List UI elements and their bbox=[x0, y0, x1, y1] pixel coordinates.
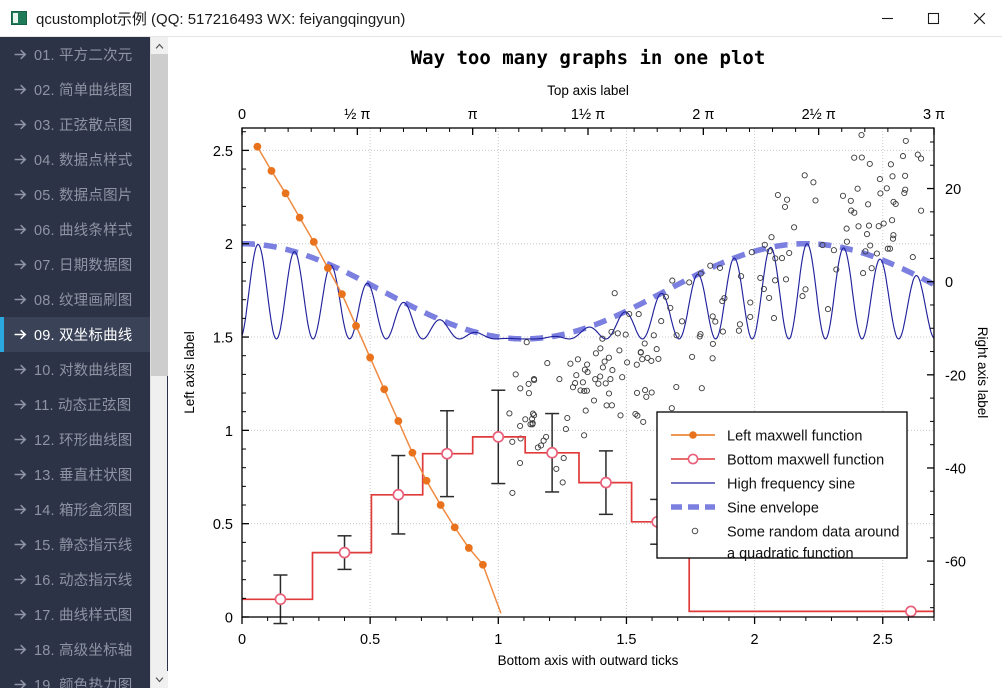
sidebar-item-label: 19. 颜色热力图 bbox=[34, 674, 133, 688]
scatter-point bbox=[868, 243, 873, 248]
scatter-point bbox=[792, 225, 797, 230]
sidebar-item-label: 06. 曲线条样式 bbox=[34, 219, 133, 240]
legend-label: Some random data around bbox=[727, 525, 900, 541]
scatter-point bbox=[524, 340, 529, 345]
scatter-point bbox=[513, 372, 518, 377]
arrow-right-icon bbox=[14, 119, 27, 130]
scatter-point bbox=[748, 300, 753, 305]
minimize-button[interactable] bbox=[864, 0, 910, 36]
sidebar-item-1[interactable]: 01. 平方二次元 bbox=[0, 37, 168, 72]
legend-marker-dot bbox=[689, 431, 697, 439]
arrow-right-icon bbox=[14, 49, 27, 60]
arrow-right-icon bbox=[14, 574, 27, 585]
sidebar-item-18[interactable]: 18. 高级坐标轴 bbox=[0, 632, 168, 667]
top-tick-label: 1½ π bbox=[571, 107, 605, 123]
scatter-point bbox=[903, 138, 908, 143]
bottom-axis-label: Bottom axis with outward ticks bbox=[498, 653, 679, 668]
scatter-point bbox=[861, 271, 866, 276]
scatter-point bbox=[779, 256, 784, 261]
left-axis-ticks: 00.511.522.5 bbox=[213, 132, 249, 627]
window-controls bbox=[864, 0, 1002, 36]
bottom-tick-label: 0.5 bbox=[360, 632, 380, 648]
scatter-point bbox=[773, 278, 778, 283]
scatter-point bbox=[690, 354, 695, 359]
scatter-point bbox=[890, 174, 895, 179]
scatter-point bbox=[902, 190, 907, 195]
sidebar-scrollbar-thumb[interactable] bbox=[151, 54, 168, 376]
scatter-point bbox=[526, 391, 531, 396]
scatter-point bbox=[785, 197, 790, 202]
scatter-point bbox=[866, 223, 871, 228]
scatter-point bbox=[874, 251, 879, 256]
scatter-point bbox=[625, 360, 630, 365]
scatter-point bbox=[634, 362, 639, 367]
scatter-point bbox=[748, 314, 753, 319]
arrow-right-icon bbox=[14, 399, 27, 410]
bottom-maxwell-marker bbox=[393, 490, 403, 500]
window-title: qcustomplot示例 (QQ: 517216493 WX: feiyang… bbox=[36, 8, 405, 29]
left-maxwell-marker bbox=[253, 143, 261, 151]
right-axis-ticks: -60-40-20020 bbox=[927, 142, 966, 608]
scatter-point bbox=[903, 187, 908, 192]
chart-canvas[interactable]: Way too many graphs in one plotTop axis … bbox=[168, 37, 1002, 688]
sidebar-item-label: 04. 数据点样式 bbox=[34, 149, 133, 170]
scatter-point bbox=[869, 266, 874, 271]
arrow-right-icon bbox=[14, 539, 27, 550]
scatter-point bbox=[710, 341, 715, 346]
scatter-point bbox=[585, 362, 590, 367]
sidebar-item-10[interactable]: 10. 对数曲线图 bbox=[0, 352, 168, 387]
bottom-maxwell-marker bbox=[547, 448, 557, 458]
scatter-point bbox=[644, 394, 649, 399]
arrow-right-icon bbox=[14, 644, 27, 655]
sidebar-item-label: 15. 静态指示线 bbox=[34, 534, 133, 555]
scatter-point bbox=[848, 198, 853, 203]
scatter-point bbox=[643, 388, 648, 393]
left-maxwell-marker bbox=[437, 501, 445, 509]
left-maxwell-marker bbox=[338, 290, 346, 298]
sidebar-item-label: 10. 对数曲线图 bbox=[34, 359, 133, 380]
scatter-point bbox=[649, 390, 654, 395]
series-left-maxwell bbox=[257, 147, 501, 614]
application-window: qcustomplot示例 (QQ: 517216493 WX: feiyang… bbox=[0, 0, 1002, 688]
scatter-point bbox=[604, 403, 609, 408]
top-tick-label: π bbox=[468, 107, 478, 123]
arrow-right-icon bbox=[14, 434, 27, 445]
scatter-point bbox=[659, 319, 664, 324]
scatter-point bbox=[517, 460, 522, 465]
scatter-point bbox=[565, 415, 570, 420]
scatter-point bbox=[783, 277, 788, 282]
scatter-point bbox=[642, 341, 647, 346]
scatter-point bbox=[900, 154, 905, 159]
scatter-point bbox=[803, 287, 808, 292]
top-tick-label: 0 bbox=[238, 107, 246, 123]
scatter-point bbox=[620, 375, 625, 380]
sidebar-item-label: 03. 正弦散点图 bbox=[34, 114, 133, 135]
sidebar-item-7[interactable]: 07. 日期数据图 bbox=[0, 247, 168, 282]
scatter-point bbox=[679, 319, 684, 324]
left-maxwell-marker bbox=[380, 385, 388, 393]
left-maxwell-marker bbox=[451, 524, 459, 532]
left-tick-label: 2 bbox=[225, 237, 233, 253]
scatter-point bbox=[641, 419, 646, 424]
sidebar-item-14[interactable]: 14. 箱形盒须图 bbox=[0, 492, 168, 527]
scatter-point bbox=[767, 295, 772, 300]
scatter-point bbox=[618, 413, 623, 418]
scatter-point bbox=[580, 380, 585, 385]
chart-title: Way too many graphs in one plot bbox=[411, 47, 766, 69]
left-maxwell-marker bbox=[409, 449, 417, 457]
scatter-point bbox=[583, 408, 588, 413]
scatter-point bbox=[919, 156, 924, 161]
scatter-point bbox=[844, 226, 849, 231]
scatter-point bbox=[570, 385, 575, 390]
scatter-point bbox=[910, 255, 915, 260]
bottom-tick-label: 2 bbox=[751, 632, 759, 648]
plot-panel[interactable]: Way too many graphs in one plotTop axis … bbox=[168, 37, 1002, 688]
scatter-point bbox=[649, 358, 654, 363]
sidebar-item-label: 13. 垂直柱状图 bbox=[34, 464, 133, 485]
scatter-point bbox=[610, 368, 615, 373]
scatter-point bbox=[736, 328, 741, 333]
scatter-point bbox=[596, 381, 601, 386]
scatter-point bbox=[758, 275, 763, 280]
sidebar-item-label: 17. 曲线样式图 bbox=[34, 604, 133, 625]
scatter-point bbox=[775, 192, 780, 197]
bottom-maxwell-marker bbox=[906, 606, 916, 616]
scatter-point bbox=[890, 218, 895, 223]
sidebar-item-8[interactable]: 08. 纹理画刷图 bbox=[0, 282, 168, 317]
scatter-point bbox=[545, 361, 550, 366]
scatter-point bbox=[802, 173, 807, 178]
right-tick-label: 0 bbox=[945, 275, 953, 291]
left-tick-label: 0.5 bbox=[213, 517, 233, 533]
legend-label: High frequency sine bbox=[727, 477, 855, 493]
legend-marker-circle bbox=[688, 454, 697, 463]
scatter-point bbox=[867, 161, 872, 166]
arrow-right-icon bbox=[14, 259, 27, 270]
scatter-point bbox=[844, 239, 849, 244]
scatter-point bbox=[603, 381, 608, 386]
bottom-maxwell-marker bbox=[493, 432, 503, 442]
top-tick-label: 2½ π bbox=[802, 107, 836, 123]
chevron-down-icon[interactable] bbox=[151, 671, 168, 688]
sidebar-item-label: 11. 动态正弦图 bbox=[34, 394, 131, 415]
sidebar-item-2[interactable]: 02. 简单曲线图 bbox=[0, 72, 168, 107]
scatter-point bbox=[825, 307, 830, 312]
scatter-point bbox=[856, 224, 861, 229]
sidebar-item-16[interactable]: 16. 动态指示线 bbox=[0, 562, 168, 597]
top-tick-label: 2 π bbox=[692, 107, 714, 123]
scatter-point bbox=[699, 386, 704, 391]
scatter-point bbox=[800, 294, 805, 299]
arrow-right-icon bbox=[14, 84, 27, 95]
scatter-point bbox=[713, 319, 718, 324]
scatter-point bbox=[670, 278, 675, 283]
bottom-maxwell-marker bbox=[340, 548, 350, 558]
scatter-point bbox=[561, 456, 566, 461]
scatter-point bbox=[568, 361, 573, 366]
chevron-up-icon[interactable] bbox=[151, 37, 168, 54]
legend-label-line2: a quadratic function bbox=[727, 546, 854, 562]
scatter-point bbox=[578, 388, 583, 393]
scatter-point bbox=[612, 291, 617, 296]
scatter-point bbox=[554, 466, 559, 471]
maximize-button[interactable] bbox=[910, 0, 956, 36]
top-tick-label: 3 π bbox=[923, 107, 945, 123]
arrow-right-icon bbox=[14, 294, 27, 305]
scatter-point bbox=[615, 331, 620, 336]
left-tick-label: 0 bbox=[225, 611, 233, 627]
top-tick-label: ½ π bbox=[344, 107, 370, 123]
scatter-point bbox=[654, 347, 659, 352]
scatter-point bbox=[859, 132, 864, 137]
arrow-right-icon bbox=[14, 609, 27, 620]
scatter-point bbox=[518, 423, 523, 428]
sidebar-item-3[interactable]: 03. 正弦散点图 bbox=[0, 107, 168, 142]
scatter-point bbox=[876, 224, 881, 229]
sidebar-item-label: 05. 数据点图片 bbox=[34, 184, 133, 205]
right-tick-label: -20 bbox=[945, 368, 966, 384]
scatter-point bbox=[782, 204, 787, 209]
scatter-point bbox=[739, 274, 744, 279]
arrow-right-icon bbox=[14, 189, 27, 200]
sidebar-item-6[interactable]: 06. 曲线条样式 bbox=[0, 212, 168, 247]
right-tick-label: 20 bbox=[945, 182, 961, 198]
scatter-point bbox=[710, 314, 715, 319]
series-high-frequency-sine bbox=[242, 244, 934, 339]
scatter-point bbox=[510, 490, 515, 495]
scatter-point bbox=[656, 356, 661, 361]
arrow-right-icon bbox=[14, 679, 27, 688]
bottom-tick-label: 1.5 bbox=[616, 632, 636, 648]
scatter-point bbox=[598, 346, 603, 351]
scatter-point bbox=[877, 177, 882, 182]
bottom-tick-label: 0 bbox=[238, 632, 246, 648]
scatter-point bbox=[831, 248, 836, 253]
left-tick-label: 1.5 bbox=[213, 331, 233, 347]
bottom-axis-ticks: 00.511.522.5 bbox=[238, 617, 934, 648]
scatter-point bbox=[787, 250, 792, 255]
scatter-point bbox=[507, 411, 512, 416]
right-tick-label: -40 bbox=[945, 461, 966, 477]
sidebar-item-13[interactable]: 13. 垂直柱状图 bbox=[0, 457, 168, 492]
sidebar-item-label: 14. 箱形盒须图 bbox=[34, 499, 133, 520]
scatter-point bbox=[602, 359, 607, 364]
scatter-point bbox=[636, 312, 641, 317]
sidebar-item-label: 08. 纹理画刷图 bbox=[34, 289, 133, 310]
scatter-point bbox=[855, 186, 860, 191]
sidebar-item-5[interactable]: 05. 数据点图片 bbox=[0, 177, 168, 212]
error-bars bbox=[273, 390, 664, 623]
legend-label: Bottom maxwell function bbox=[727, 453, 884, 469]
scatter-point bbox=[600, 365, 605, 370]
title-bar: qcustomplot示例 (QQ: 517216493 WX: feiyang… bbox=[0, 0, 1002, 37]
sidebar-item-label: 02. 简单曲线图 bbox=[34, 79, 133, 100]
scatter-point bbox=[737, 322, 742, 327]
sidebar-item-label: 16. 动态指示线 bbox=[34, 569, 133, 590]
sidebar-item-9[interactable]: 09. 双坐标曲线 bbox=[0, 317, 168, 352]
bottom-tick-label: 2.5 bbox=[873, 632, 893, 648]
scatter-point bbox=[560, 480, 565, 485]
scatter-point bbox=[840, 193, 845, 198]
scatter-point bbox=[518, 386, 523, 391]
arrow-right-icon bbox=[14, 469, 27, 480]
sidebar-item-label: 18. 高级坐标轴 bbox=[34, 639, 133, 660]
scatter-point bbox=[640, 357, 645, 362]
scatter-point bbox=[864, 232, 869, 237]
scatter-point bbox=[674, 384, 679, 389]
scatter-point bbox=[530, 411, 535, 416]
legend-label: Sine envelope bbox=[727, 501, 819, 517]
scatter-point bbox=[593, 351, 598, 356]
left-tick-label: 1 bbox=[225, 424, 233, 440]
scatter-point bbox=[852, 155, 857, 160]
scatter-point bbox=[541, 438, 546, 443]
scatter-point bbox=[544, 434, 549, 439]
scatter-point bbox=[608, 377, 613, 382]
app-icon bbox=[11, 11, 27, 25]
sidebar[interactable]: 01. 平方二次元02. 简单曲线图03. 正弦散点图04. 数据点样式05. … bbox=[0, 37, 168, 688]
scatter-point bbox=[591, 398, 596, 403]
scatter-point bbox=[687, 280, 692, 285]
scatter-point bbox=[878, 191, 883, 196]
scatter-point bbox=[919, 208, 924, 213]
sidebar-item-19[interactable]: 19. 颜色热力图 bbox=[0, 667, 168, 688]
left-maxwell-marker bbox=[394, 417, 402, 425]
left-maxwell-marker bbox=[465, 544, 473, 552]
scatter-point bbox=[582, 433, 587, 438]
left-maxwell-marker bbox=[282, 189, 290, 197]
legend-label: Left maxwell function bbox=[727, 429, 862, 445]
left-maxwell-marker bbox=[268, 167, 276, 175]
left-maxwell-marker bbox=[479, 561, 487, 569]
top-axis-label: Top axis label bbox=[547, 83, 629, 98]
arrow-right-icon bbox=[14, 154, 27, 165]
scatter-point bbox=[598, 374, 603, 379]
scatter-point bbox=[888, 162, 893, 167]
sidebar-item-15[interactable]: 15. 静态指示线 bbox=[0, 527, 168, 562]
arrow-right-icon bbox=[14, 364, 27, 375]
bottom-maxwell-marker bbox=[601, 478, 611, 488]
scatter-point bbox=[510, 439, 515, 444]
left-maxwell-marker bbox=[352, 322, 360, 330]
sidebar-item-17[interactable]: 17. 曲线样式图 bbox=[0, 597, 168, 632]
scatter-point bbox=[859, 155, 864, 160]
scatter-point bbox=[720, 329, 725, 334]
bottom-maxwell-marker bbox=[275, 594, 285, 604]
scatter-point bbox=[574, 373, 579, 378]
left-maxwell-marker bbox=[366, 354, 374, 362]
scatter-point bbox=[623, 332, 628, 337]
left-axis-label: Left axis label bbox=[182, 331, 197, 414]
arrow-right-icon bbox=[14, 329, 27, 340]
sidebar-item-label: 09. 双坐标曲线 bbox=[34, 324, 133, 345]
scatter-point bbox=[669, 406, 674, 411]
sidebar-item-label: 12. 环形曲线图 bbox=[34, 429, 133, 450]
scatter-point bbox=[890, 236, 895, 241]
sidebar-item-label: 01. 平方二次元 bbox=[34, 44, 133, 65]
arrow-right-icon bbox=[14, 504, 27, 515]
scatter-point bbox=[884, 186, 889, 191]
scatter-point bbox=[634, 390, 639, 395]
sidebar-item-4[interactable]: 04. 数据点样式 bbox=[0, 142, 168, 177]
top-axis-ticks: 0½ ππ1½ π2 π2½ π3 π bbox=[238, 107, 945, 135]
scatter-point bbox=[523, 417, 528, 422]
sidebar-scrollbar[interactable] bbox=[150, 37, 167, 688]
left-maxwell-marker bbox=[423, 477, 431, 485]
sidebar-item-12[interactable]: 12. 环形曲线图 bbox=[0, 422, 168, 457]
left-maxwell-marker bbox=[324, 264, 332, 272]
arrow-right-icon bbox=[14, 224, 27, 235]
scatter-point bbox=[606, 391, 611, 396]
scatter-point bbox=[771, 316, 776, 321]
scatter-point bbox=[563, 427, 568, 432]
sidebar-item-label: 07. 日期数据图 bbox=[34, 254, 133, 275]
scatter-point bbox=[609, 403, 614, 408]
bottom-maxwell-marker bbox=[442, 449, 452, 459]
bottom-tick-label: 1 bbox=[494, 632, 502, 648]
scatter-point bbox=[617, 348, 622, 353]
scatter-point bbox=[881, 221, 886, 226]
left-tick-label: 2.5 bbox=[213, 144, 233, 160]
scatter-point bbox=[710, 356, 715, 361]
scatter-point bbox=[866, 202, 871, 207]
scatter-point bbox=[903, 173, 908, 178]
scatter-point bbox=[813, 198, 818, 203]
left-maxwell-marker bbox=[296, 214, 304, 222]
right-axis-label: Right axis label bbox=[975, 327, 990, 419]
close-button[interactable] bbox=[956, 0, 1002, 36]
scatter-point bbox=[769, 235, 774, 240]
chart-legend[interactable]: Left maxwell functionBottom maxwell func… bbox=[657, 412, 907, 562]
scatter-point bbox=[811, 180, 816, 185]
scatter-point bbox=[557, 377, 562, 382]
sidebar-item-11[interactable]: 11. 动态正弦图 bbox=[0, 387, 168, 422]
scatter-point bbox=[575, 357, 580, 362]
right-tick-label: -60 bbox=[945, 555, 966, 571]
scatter-point bbox=[526, 381, 531, 386]
left-maxwell-marker bbox=[310, 238, 318, 246]
scatter-point bbox=[606, 355, 611, 360]
